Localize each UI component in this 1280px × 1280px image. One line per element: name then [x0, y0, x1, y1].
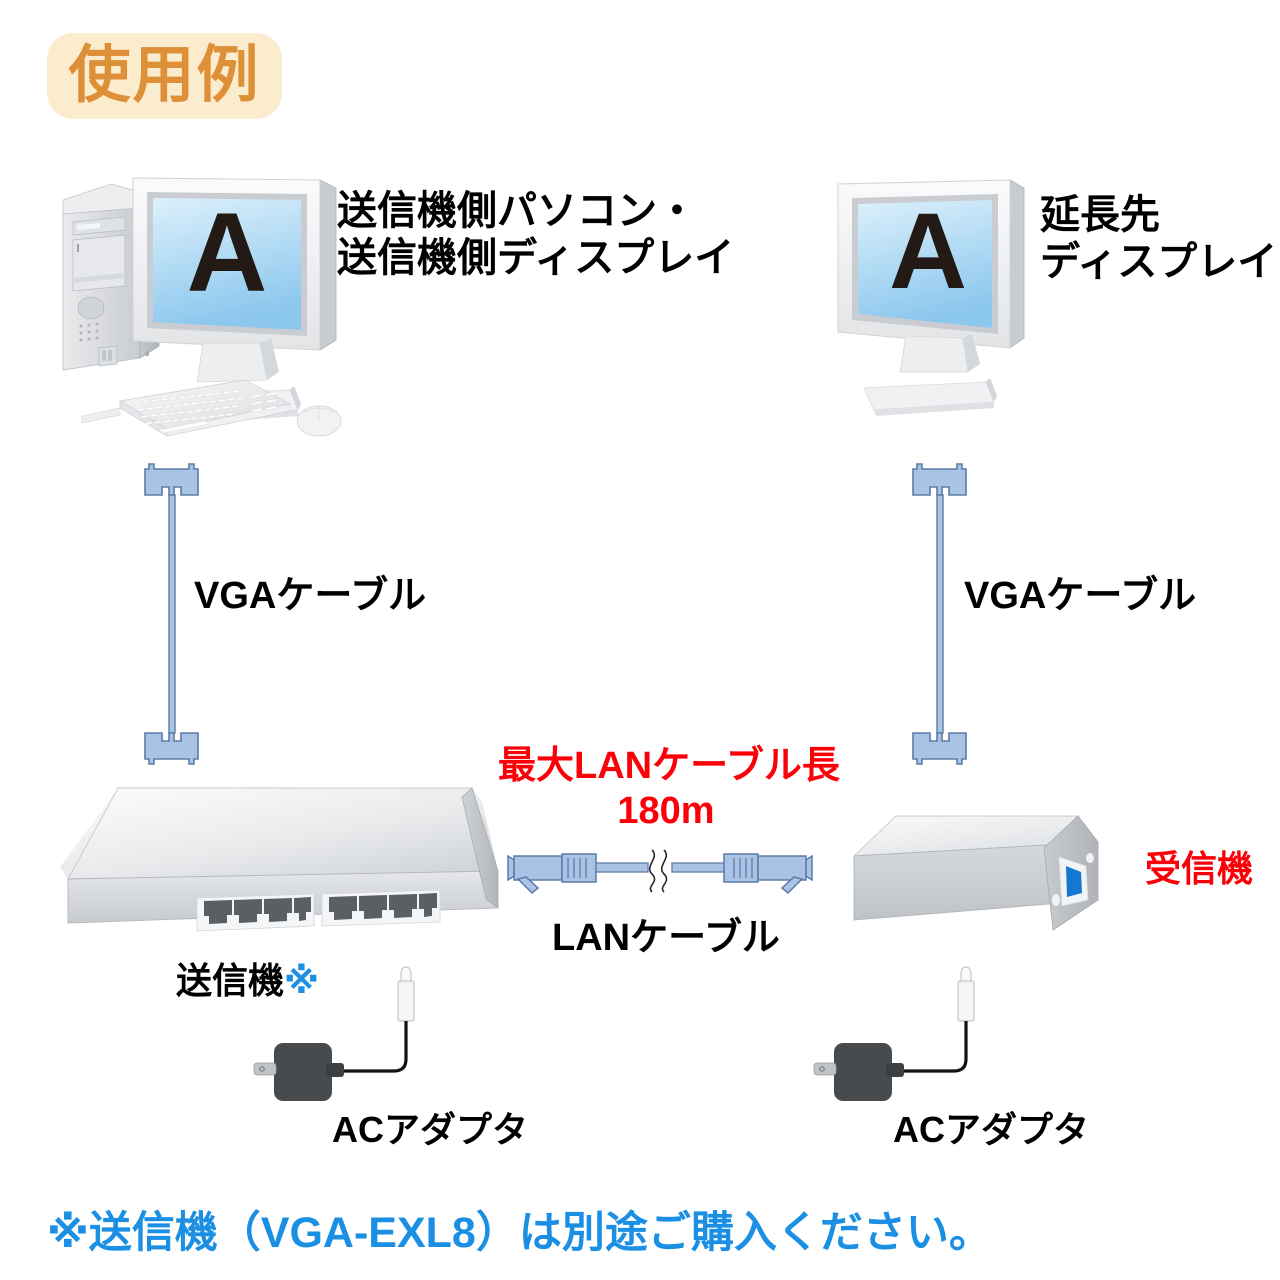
remote-display-label: 延長先 ディスプレイ [1040, 192, 1277, 286]
receiver-device-icon [840, 808, 1140, 948]
usage-example-diagram: 使用例 [0, 0, 1280, 1280]
ac-adapter-right-label: ACアダプタ [893, 1109, 1089, 1151]
transmitter-side-computer-illustration: A [55, 158, 385, 458]
ac-adapter-left-label: ACアダプタ [332, 1109, 528, 1151]
left-screen-letter: A [187, 190, 268, 315]
usage-example-badge: 使用例 [47, 33, 282, 119]
max-lan-length-label: 最大LANケーブル長 180m [498, 744, 834, 834]
footnote-text: ※送信機（VGA-EXL8）は別途ご購入ください。 [47, 1208, 992, 1259]
vga-cable-right-label: VGAケーブル [964, 574, 1196, 619]
dc-plug-icon [398, 967, 414, 1021]
usage-example-badge-label: 使用例 [47, 33, 282, 119]
receiver-label: 受信機 [1145, 848, 1253, 890]
remote-display-illustration: A [828, 166, 1038, 416]
ac-adapter-right-icon [806, 965, 996, 1105]
lan-cable-label: LANケーブル [552, 916, 780, 961]
transmitter-device-icon [52, 775, 522, 940]
vga-cable-left-label: VGAケーブル [194, 574, 426, 619]
ac-adapter-left-icon [246, 965, 436, 1105]
adapter-body [254, 1043, 344, 1101]
lan-cable-icon [500, 846, 820, 898]
right-screen-letter: A [889, 190, 967, 311]
transmitter-side-label: 送信機側パソコン・ 送信機側ディスプレイ [337, 188, 734, 282]
dc-plug-icon [958, 967, 974, 1021]
keyboard-icon [82, 380, 290, 436]
mouse-icon [297, 406, 341, 436]
adapter-body [814, 1043, 904, 1101]
